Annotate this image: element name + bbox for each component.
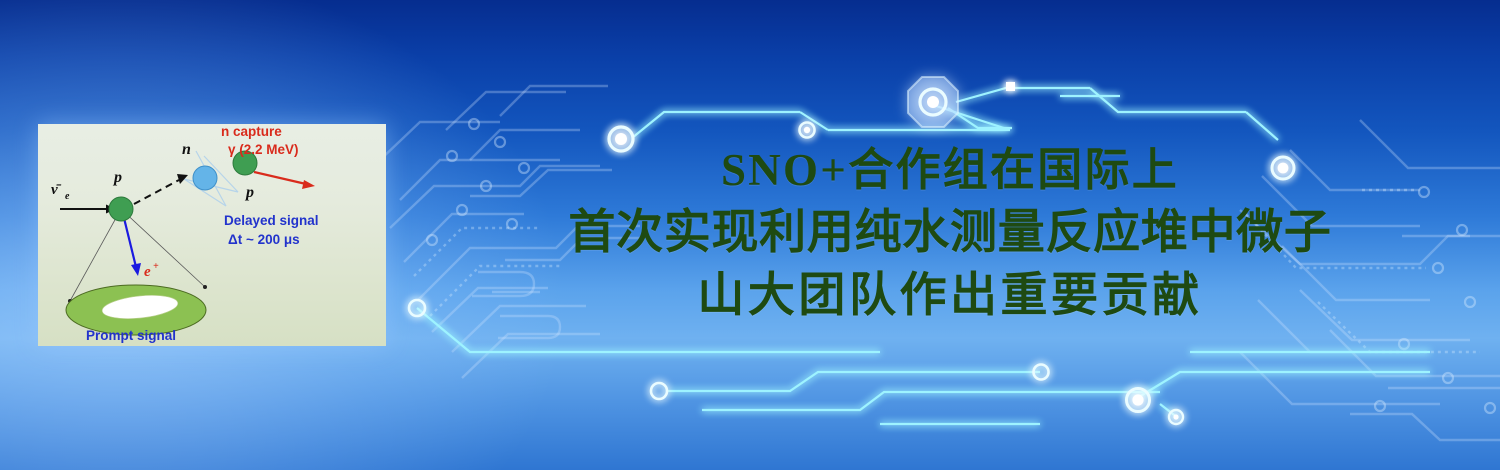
news-banner: ν̄ e p n p e + n capture γ (2.2 MeV) Del… xyxy=(0,0,1500,470)
positron-superscript: + xyxy=(153,261,159,272)
positron-label: e xyxy=(144,264,151,280)
gamma-arrow xyxy=(254,172,315,189)
n-capture-label-line1: n capture xyxy=(221,124,282,139)
proton-2-label: p xyxy=(244,184,254,201)
delayed-signal-label-line1: Delayed signal xyxy=(224,213,319,228)
headline-line-1: SNO+合作组在国际上 xyxy=(430,148,1470,193)
proton-1-label: p xyxy=(112,169,122,186)
diagram-svg: ν̄ e p n p e + n capture γ (2.2 MeV) Del… xyxy=(38,124,386,346)
antineutrino-label: ν̄ xyxy=(51,182,62,198)
neutron-label: n xyxy=(182,141,191,158)
neutron-arrow xyxy=(134,174,188,204)
prompt-signal-label: Prompt signal xyxy=(86,328,176,343)
octagon-hub-node xyxy=(908,77,958,127)
proton-1-particle xyxy=(109,197,133,221)
headline-block: SNO+合作组在国际上 首次实现利用纯水测量反应堆中微子 山大团队作出重要贡献 xyxy=(430,148,1470,320)
antineutrino-subscript: e xyxy=(65,191,70,202)
neutron-particle xyxy=(193,166,217,190)
antineutrino-arrow xyxy=(60,205,116,214)
inverse-beta-decay-diagram: ν̄ e p n p e + n capture γ (2.2 MeV) Del… xyxy=(38,124,386,346)
n-capture-label-line2: γ (2.2 MeV) xyxy=(228,142,299,157)
headline-line-3: 山大团队作出重要贡献 xyxy=(430,273,1470,320)
headline-line-2: 首次实现利用纯水测量反应堆中微子 xyxy=(430,210,1470,257)
positron-arrow xyxy=(123,214,141,276)
delayed-signal-label-line2: Δt ~ 200 μs xyxy=(228,232,300,247)
